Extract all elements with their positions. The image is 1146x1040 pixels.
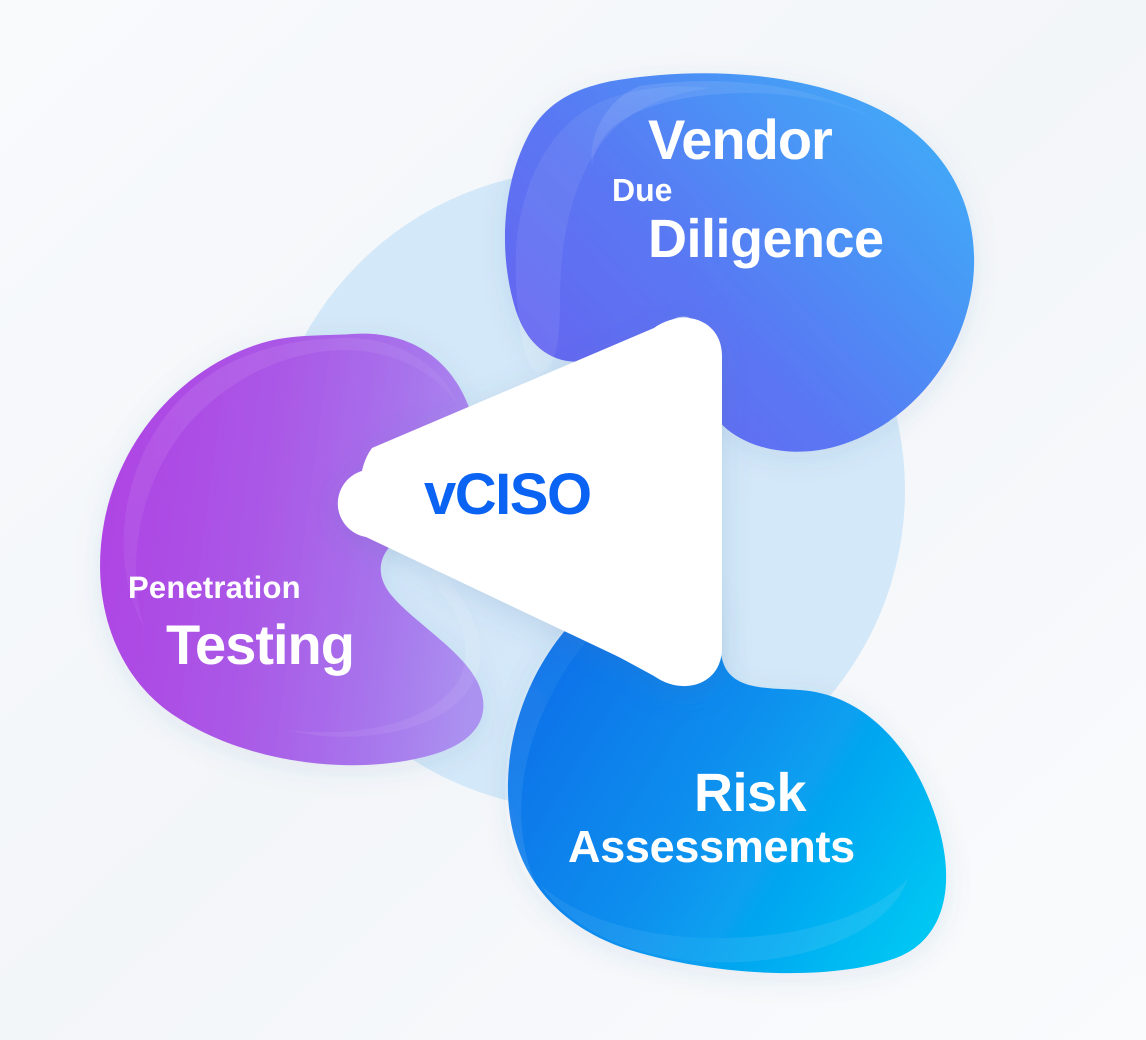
diagram-canvas: Vendor Due Diligence Penetration Testing… bbox=[0, 0, 1146, 1040]
vciso-services-diagram bbox=[0, 0, 1146, 1040]
